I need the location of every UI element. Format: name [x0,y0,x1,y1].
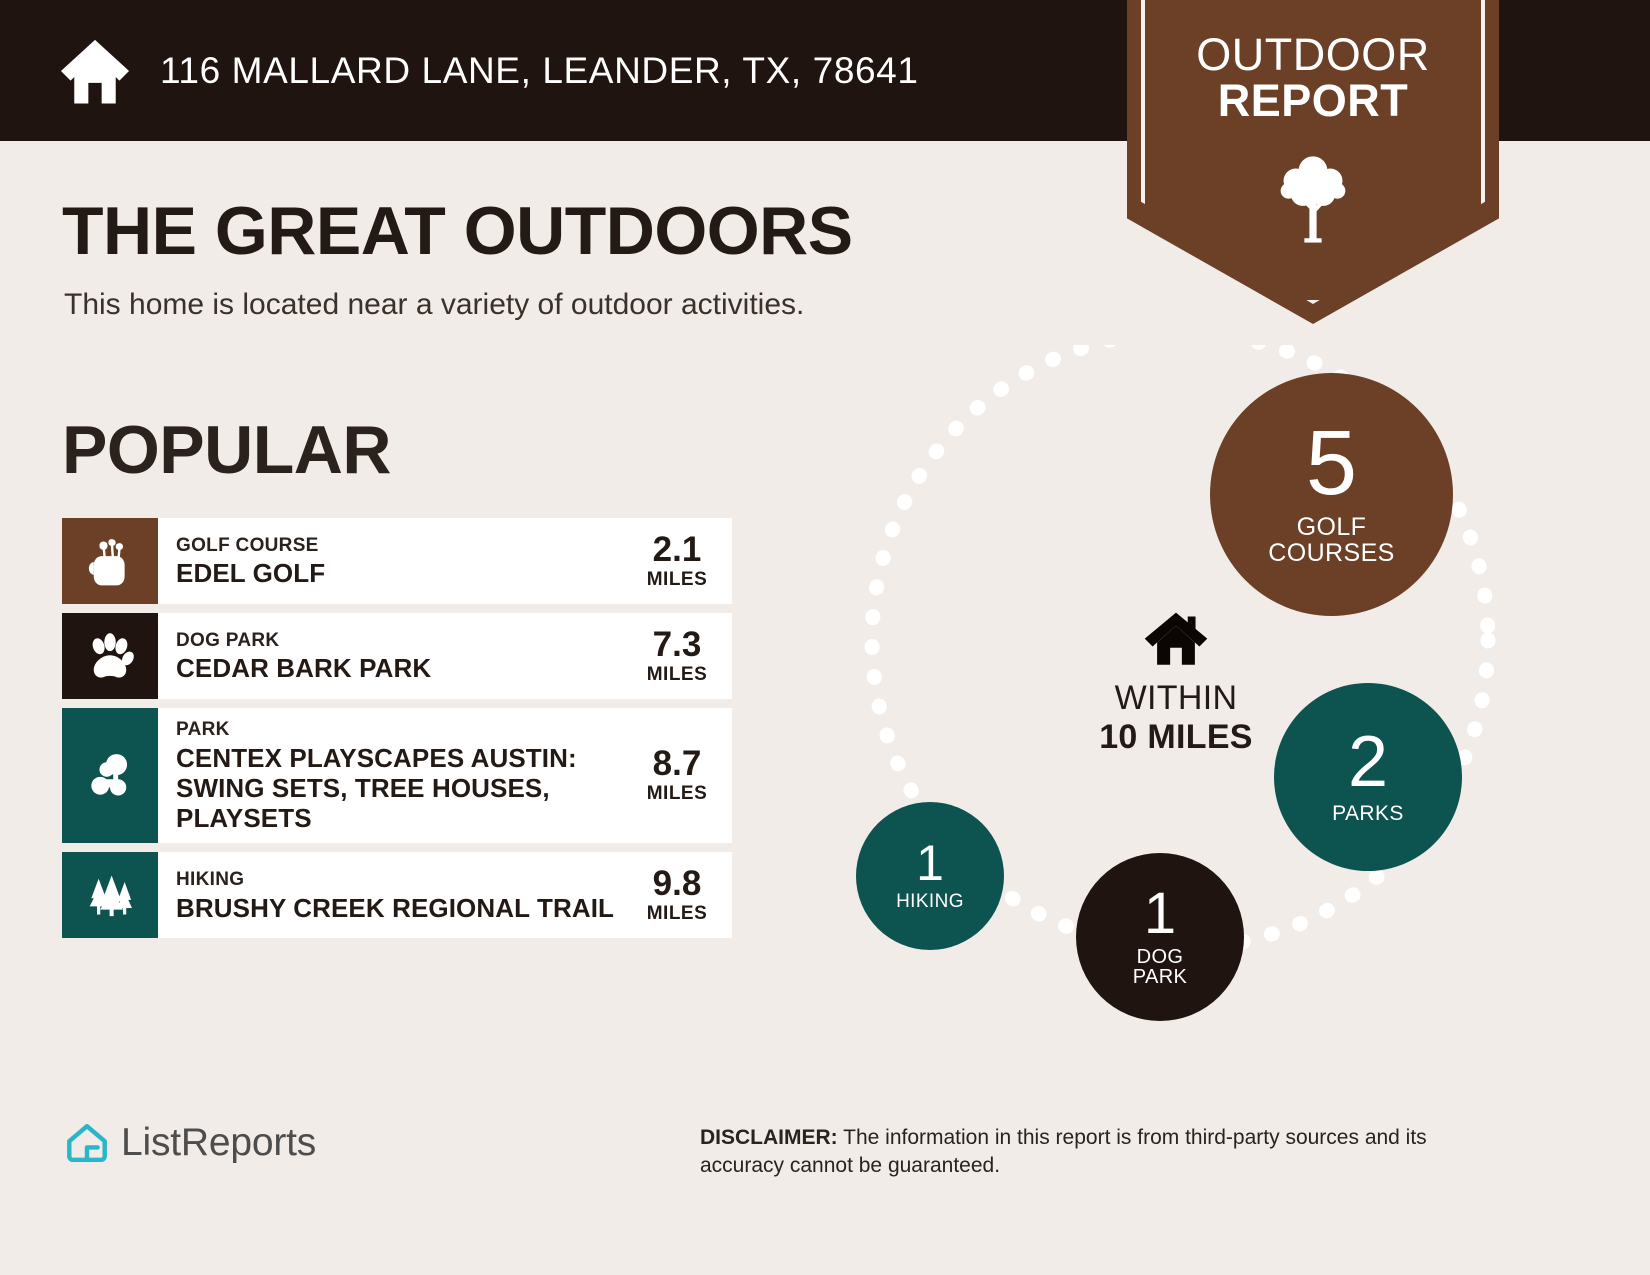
tree-icon [1277,152,1349,244]
distance-unit: MILES [647,903,708,925]
bubble-label: GOLF COURSES [1268,515,1394,567]
distance-value: 2.1 [653,532,702,567]
list-item-distance: 7.3 MILES [628,613,732,699]
list-item-distance: 9.8 MILES [628,852,732,938]
bubble-count: 1 [1144,884,1176,944]
list-item-icon-tile [62,613,158,699]
bubble-label: HIKING [896,892,964,912]
bubble-label-line2: COURSES [1268,541,1394,567]
list-item-icon-tile [62,518,158,604]
home-icon [58,34,132,108]
bubble-count: 2 [1348,725,1388,799]
distance-value: 7.3 [653,627,702,662]
list-item-category: PARK [176,718,622,742]
distance-unit: MILES [647,664,708,686]
list-item-name: CENTEX PLAYSCAPES AUSTIN: SWING SETS, TR… [176,743,622,833]
list-item-category: GOLF COURSE [176,534,622,558]
golf-bag-icon [84,535,136,587]
center-label-line1: WITHIN [1066,679,1286,718]
bubble-label-line2: PARK [1133,967,1188,988]
popular-list: GOLF COURSE EDEL GOLF 2.1 MILES DOG PARK… [62,518,732,947]
property-address: 116 MALLARD LANE, LEANDER, TX, 78641 [160,50,919,92]
list-item-name: EDEL GOLF [176,558,622,588]
bubble-hiking: 1 HIKING [856,802,1004,950]
bubble-label-line1: GOLF [1268,515,1394,541]
badge-title-line1: OUTDOOR [1127,32,1499,78]
distance-unit: MILES [647,569,708,591]
list-item-body: HIKING BRUSHY CREEK REGIONAL TRAIL [158,852,628,938]
listreports-wordmark: ListReports [121,1121,316,1165]
home-icon [1143,610,1209,666]
list-item[interactable]: GOLF COURSE EDEL GOLF 2.1 MILES [62,518,732,604]
page-title: THE GREAT OUTDOORS [62,192,853,270]
list-item-body: PARK CENTEX PLAYSCAPES AUSTIN: SWING SET… [158,708,628,843]
distance-value: 8.7 [653,746,702,781]
list-item[interactable]: DOG PARK CEDAR BARK PARK 7.3 MILES [62,613,732,699]
list-item-icon-tile [62,708,158,843]
list-item-body: DOG PARK CEDAR BARK PARK [158,613,628,699]
bubble-dog-park: 1 DOG PARK [1076,853,1244,1021]
list-item-name: CEDAR BARK PARK [176,653,622,683]
within-10-miles-diagram: WITHIN 10 MILES 5 GOLF COURSES 2 PARKS 1… [820,345,1540,1065]
bubble-label: PARKS [1332,803,1404,825]
list-item-body: GOLF COURSE EDEL GOLF [158,518,628,604]
list-item-category: HIKING [176,868,622,892]
pine-trees-icon [84,869,136,921]
bubble-label: DOG PARK [1133,947,1188,988]
disclaimer-label: DISCLAIMER: [700,1126,838,1149]
bubble-count: 5 [1306,416,1357,511]
paw-print-icon [84,630,136,682]
outdoor-report-badge: OUTDOOR REPORT [1127,0,1499,324]
list-item-distance: 2.1 MILES [628,518,732,604]
list-item-icon-tile [62,852,158,938]
list-item-distance: 8.7 MILES [628,708,732,843]
distance-value: 9.8 [653,866,702,901]
badge-title: OUTDOOR REPORT [1127,32,1499,124]
distance-unit: MILES [647,783,708,805]
park-trees-icon [84,750,136,802]
list-item-category: DOG PARK [176,629,622,653]
listreports-logo[interactable]: ListReports [64,1120,316,1166]
bubble-golf-courses: 5 GOLF COURSES [1210,373,1453,616]
popular-heading: POPULAR [62,411,391,489]
list-item-name: BRUSHY CREEK REGIONAL TRAIL [176,893,622,923]
diagram-center-marker: WITHIN 10 MILES [1066,610,1286,757]
badge-title-line2: REPORT [1127,78,1499,124]
center-label-line2: 10 MILES [1066,718,1286,757]
disclaimer: DISCLAIMER: The information in this repo… [700,1124,1512,1181]
bubble-label-line1: DOG [1133,947,1188,968]
list-item[interactable]: PARK CENTEX PLAYSCAPES AUSTIN: SWING SET… [62,708,732,843]
bubble-count: 1 [916,838,944,890]
list-item[interactable]: HIKING BRUSHY CREEK REGIONAL TRAIL 9.8 M… [62,852,732,938]
listreports-house-icon [64,1120,110,1166]
page-subtitle: This home is located near a variety of o… [64,288,804,322]
bubble-parks: 2 PARKS [1274,683,1462,871]
